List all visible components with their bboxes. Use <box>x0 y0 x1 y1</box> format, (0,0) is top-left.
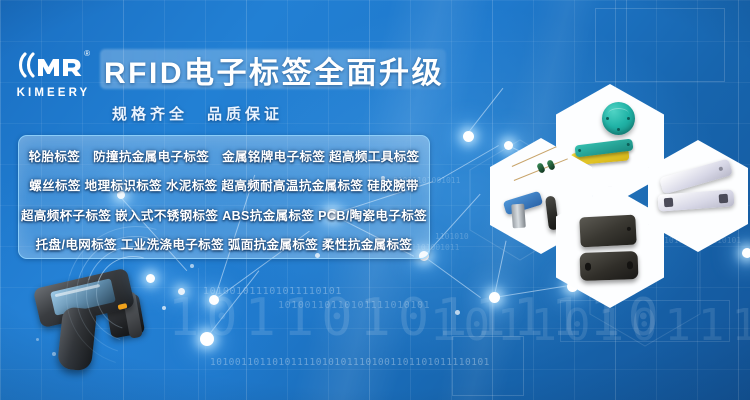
pcb-tag-bead <box>536 162 546 174</box>
tag-row: 托盘/电网标签 工业洗涤电子标签 弧面抗金属标签 柔性抗金属标签 <box>19 234 429 253</box>
anti-metal-tag-dark-top <box>579 215 636 248</box>
binary-text-1: 101001011101011110101 <box>203 286 342 297</box>
reader-pistol-grip <box>57 306 97 371</box>
brand-wordmark: KIMEERY <box>11 87 93 99</box>
tag-row: 轮胎标签 防撞抗金属电子标签 金属铭牌电子标签 超高频工具标签 <box>19 146 429 165</box>
screw-tag-pin <box>511 204 526 229</box>
rfid-promo-banner: 1011010111110 1011010111110 101001011101… <box>0 0 750 400</box>
handheld-rfid-reader <box>30 268 180 388</box>
binary-text-3: 1010011011010111101010111010011011010111… <box>210 357 490 368</box>
disc-tag-teal <box>602 102 635 135</box>
anti-metal-tag-dark-bottom <box>580 251 639 281</box>
kimeery-k-logo-icon: ® <box>11 50 93 84</box>
tag-row: 超高频杯子标签 嵌入式不锈钢标签 ABS抗金属标签 PCB/陶瓷电子标签 <box>19 205 429 224</box>
binary-text-2: 10100110110101111010101 <box>278 300 430 311</box>
binary-large-text-right: 1011010111110 <box>430 300 750 351</box>
pcb-tag-bead <box>546 159 556 171</box>
brand-logo[interactable]: ® KIMEERY <box>11 50 93 99</box>
registered-trademark-icon: ® <box>84 50 90 58</box>
network-node <box>463 131 474 142</box>
network-node <box>742 248 750 258</box>
page-subtitle: 规格齐全 品质保证 <box>112 103 283 124</box>
network-node <box>504 141 513 150</box>
page-title: RFID电子标签全面升级 <box>104 50 450 89</box>
product-tag-list-panel: 轮胎标签 防撞抗金属电子标签 金属铭牌电子标签 超高频工具标签 螺丝标签 地理标… <box>18 135 430 259</box>
binary-text-5: 1101010 <box>435 232 469 241</box>
tag-row: 螺丝标签 地理标识标签 水泥标签 超高频耐高温抗金属标签 硅胶腕带 <box>19 175 429 194</box>
